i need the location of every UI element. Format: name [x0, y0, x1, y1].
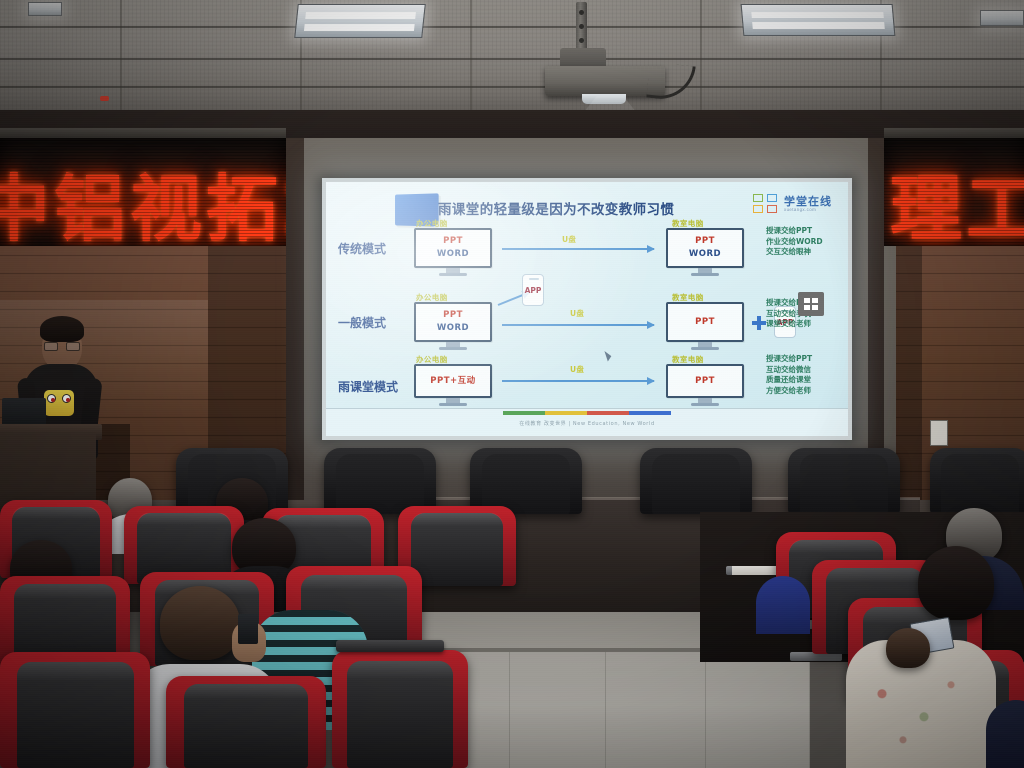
monitor-line-2: WORD: [437, 248, 469, 261]
slide-footer: 在线教育 改变世界 | New Education, New World: [326, 408, 848, 436]
seat-armrest: [336, 640, 444, 652]
note-line: 授课交给PPT: [766, 354, 812, 365]
monitor-screen: PPT WORD: [666, 228, 744, 268]
light-tube: [752, 22, 885, 29]
monitor-base: [439, 273, 467, 276]
monitor-source-row1: PPT WORD: [414, 228, 492, 276]
monitor-base: [439, 347, 467, 350]
monitor-base: [691, 403, 719, 406]
monitor-line-2: WORD: [437, 322, 469, 335]
xuetangx-logo: 学堂在线 xuetangx.com: [753, 194, 832, 214]
monitor-target-row1: PPT WORD: [666, 228, 744, 276]
led-sign-frame-right: [884, 128, 1024, 138]
logo-text-cn: 学堂在线: [784, 196, 832, 207]
arrow-label-usb-row3: U盘: [570, 364, 584, 375]
monitor-base: [691, 347, 719, 350]
monitor-line-1: PPT: [443, 309, 463, 322]
note-line: 课堂交给老师: [766, 319, 812, 330]
projector-mount: [576, 2, 587, 52]
monitor-line-1: PPT: [695, 375, 715, 388]
plus-icon-row2: [752, 316, 766, 330]
monitor-screen: PPT: [666, 302, 744, 342]
notes-row1: 授课交给PPT 作业交给WORD 交互交给眼神: [766, 226, 823, 258]
shirt-graphic-eye: [62, 394, 71, 403]
ceiling-seam: [0, 86, 1024, 88]
note-line: 交互交给眼神: [766, 247, 823, 258]
row-label-rainclassroom: 雨课堂模式: [338, 378, 398, 395]
footer-text: 在线教育 改变世界 | New Education, New World: [519, 420, 654, 427]
auditorium-photo-scene: 中铝视拓2 理工大 雨课堂的轻量级是因为不改变教师习惯 学堂在线 xuetang…: [0, 0, 1024, 768]
mount-hole: [579, 24, 584, 29]
logo-wordmark: 学堂在线 xuetangx.com: [784, 196, 832, 212]
arrow-row2: [502, 324, 654, 326]
note-line: 作业交给WORD: [766, 237, 823, 248]
monitor-source-row3: PPT+互动: [414, 364, 492, 406]
audience-head: [160, 586, 240, 660]
ceiling: [0, 0, 1024, 118]
light-tube: [751, 12, 884, 19]
led-sign-left: 中铝视拓2: [0, 138, 286, 246]
floor-tile: [606, 652, 706, 768]
monitor-line-1: PPT: [695, 316, 715, 329]
footer-color-bars: [503, 411, 671, 415]
arrow-label-usb-row2: U盘: [570, 308, 584, 319]
seat-back[interactable]: [788, 448, 900, 514]
wall-column-left: [286, 138, 304, 508]
logo-squares-icon: [753, 194, 779, 214]
ceiling-grid-line: [700, 0, 702, 118]
arrow-row3: [502, 380, 654, 382]
audience-head: [918, 546, 994, 620]
row-label-traditional: 传统模式: [338, 240, 386, 257]
led-sign-right-text: 理工大: [890, 150, 1024, 246]
monitor-base: [439, 403, 467, 406]
led-sign-right: 理工大: [884, 138, 1024, 246]
audience-shoulders: [986, 700, 1024, 768]
seat-back[interactable]: [470, 448, 582, 514]
seat[interactable]: [166, 676, 326, 768]
arrow-row1: [502, 248, 654, 250]
phone-app-row2: APP: [522, 274, 544, 306]
led-sign-frame-left: [0, 128, 286, 138]
footer-rule: [326, 408, 848, 409]
logo-text-en: xuetangx.com: [784, 208, 832, 212]
note-line: 方便交给老师: [766, 386, 812, 397]
shirt-graphic-eye: [47, 394, 56, 403]
audience-phone[interactable]: [238, 614, 258, 644]
mount-hole: [579, 38, 584, 43]
seat-back[interactable]: [324, 448, 436, 514]
mount-hole: [579, 10, 584, 15]
wall-switch-plate[interactable]: [930, 420, 948, 446]
seat[interactable]: [0, 652, 150, 768]
ceiling-light: [741, 4, 896, 36]
note-line: 授课交给PPT: [766, 226, 823, 237]
ceiling-grid-line: [120, 0, 122, 118]
ceiling-seam: [0, 58, 1024, 60]
smoke-sensor: [100, 96, 109, 101]
windows-app-grid-icon: [798, 292, 824, 316]
monitor-line-1: PPT: [695, 235, 715, 248]
light-tube: [304, 24, 416, 31]
arrow-label-usb-row1: U盘: [562, 234, 576, 245]
seat-back[interactable]: [930, 448, 1024, 514]
mouse-cursor-icon: [604, 349, 612, 361]
led-sign-left-text: 中铝视拓2: [0, 150, 286, 246]
ceiling-light: [980, 10, 1024, 26]
light-tube: [305, 12, 417, 19]
seat[interactable]: [332, 650, 468, 768]
presenter-glasses: [44, 342, 80, 351]
audience-head-small: [886, 628, 930, 668]
note-line: 互动交给微信: [766, 365, 812, 376]
monitor-line-2: WORD: [689, 248, 721, 261]
ceiling-grid-line: [470, 0, 472, 118]
presenter-shirt-graphic: [44, 390, 74, 416]
monitor-screen: PPT WORD: [414, 302, 492, 342]
monitor-base: [691, 273, 719, 276]
note-line: 质量还给课堂: [766, 375, 812, 386]
floor-tile: [706, 652, 810, 768]
monitor-target-row3: PPT: [666, 364, 744, 406]
slide-title: 雨课堂的轻量级是因为不改变教师习惯: [438, 198, 674, 218]
floor-tile: [510, 652, 606, 768]
ceiling-light: [294, 4, 426, 38]
presentation-slide: 雨课堂的轻量级是因为不改变教师习惯 学堂在线 xuetangx.com 传统模式…: [326, 182, 848, 436]
presenter-hair: [40, 316, 84, 342]
projector-lens: [582, 94, 626, 104]
monitor-target-row2: PPT: [666, 302, 744, 350]
paper-sheet: [732, 566, 776, 575]
monitor-line-1: PPT+互动: [430, 375, 475, 388]
audience-shoulders: [756, 576, 810, 634]
monitor-screen: PPT+互动: [414, 364, 492, 398]
seat-back[interactable]: [640, 448, 752, 514]
monitor-screen: PPT WORD: [414, 228, 492, 268]
ceiling-light: [28, 2, 62, 16]
monitor-screen: PPT: [666, 364, 744, 398]
phone-app-label: APP: [525, 286, 542, 295]
projection-screen: 雨课堂的轻量级是因为不改变教师习惯 学堂在线 xuetangx.com 传统模式…: [322, 178, 852, 440]
row-label-general: 一般模式: [338, 314, 386, 331]
monitor-line-1: PPT: [443, 235, 463, 248]
monitor-source-row2: PPT WORD: [414, 302, 492, 350]
notes-row3: 授课交给PPT 互动交给微信 质量还给课堂 方便交给老师: [766, 354, 812, 396]
